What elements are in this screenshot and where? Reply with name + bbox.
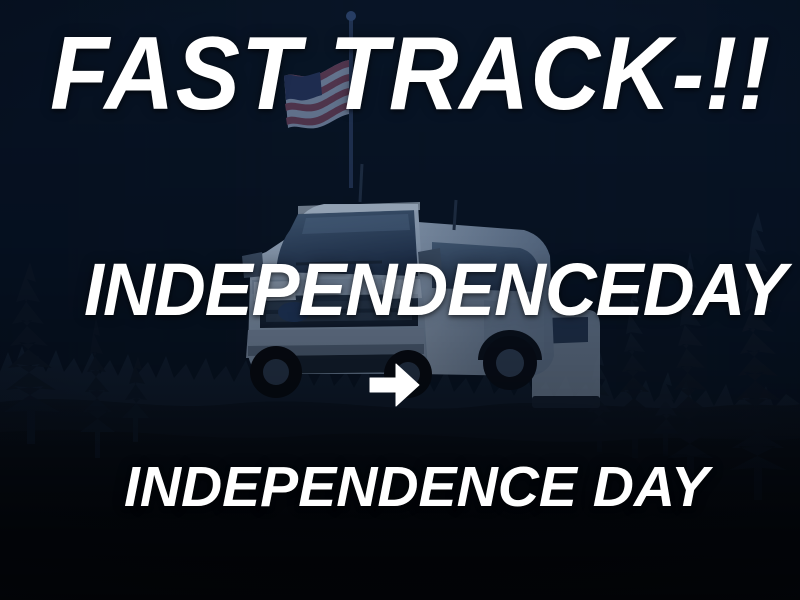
fast-track-poster: FAST TRACK-!! INDEPENDENCEDAY INDEPENDEN… [0,0,800,600]
right-arrow-glyph [366,360,422,410]
headline-fast-track: FAST TRACK-!! [50,22,771,126]
after-text-independence-day: INDEPENDENCE DAY [124,459,709,516]
right-arrow-icon [366,360,422,410]
before-text-independenceday: INDEPENDENCEDAY [84,253,786,327]
